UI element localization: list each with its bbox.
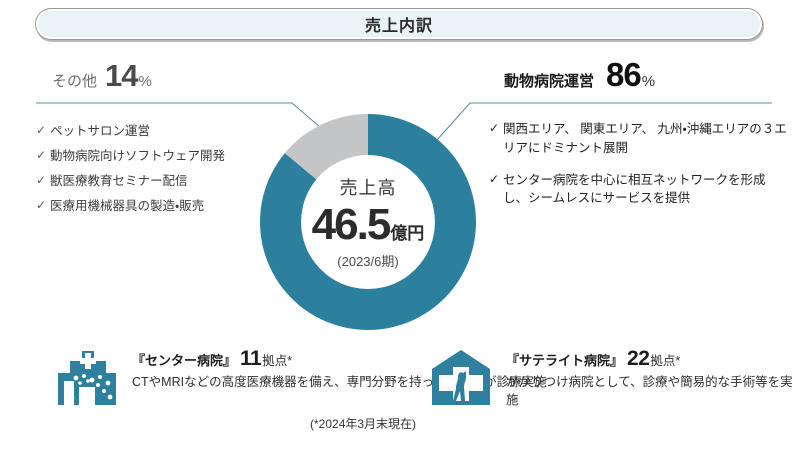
footnote: (*2024年3月末現在) [310,415,416,432]
main-segment-percent-sign: % [642,73,655,90]
facility-count-unit: 拠点* [650,350,680,369]
facility-count: 11 [240,347,261,371]
list-item-label: 関西エリア、 関東エリア、 九州・沖縄エリアの３エリアにドミナント展開 [503,120,789,158]
check-icon: ✓ [489,120,503,137]
other-segment-percent-sign: % [139,73,152,90]
facility-satellite-heading: 『サテライト病院』 22 拠点* [506,347,800,371]
facility-count-unit: 拠点* [262,350,292,369]
list-item-label: ペットサロン運営 [50,122,150,140]
list-item: ✓ センター病院を中心に相互ネットワークを形成し、シームレスにサービスを提供 [489,171,789,209]
main-segment-category: 動物病院運営 [504,70,594,91]
facility-name: 『センター病院』 [132,350,236,369]
donut-center-value: 46.5 [312,202,390,248]
donut-center-title: 売上高 [340,174,397,200]
list-item: ✓ 獣医療教育セミナー配信 [36,172,286,190]
list-item-label: 獣医療教育セミナー配信 [50,172,188,190]
facility-count: 22 [627,347,649,371]
satellite-clinic-icon [424,345,498,411]
list-item: ✓ 動物病院向けソフトウェア開発 [36,147,286,165]
main-segment-label: 動物病院運営 86 % [504,56,655,94]
other-segment-bullet-list: ✓ ペットサロン運営 ✓ 動物病院向けソフトウェア開発 ✓ 獣医療教育セミナー配… [36,122,286,223]
check-icon: ✓ [36,147,50,164]
list-item-label: 医療用機械器具の製造・販売 [50,197,204,215]
donut-center-period: (2023/6期) [337,251,398,270]
facility-satellite-body: 『サテライト病院』 22 拠点* かかりつけ病院として、診療や簡易的な手術等を実… [506,345,800,409]
facility-satellite-hospital: 『サテライト病院』 22 拠点* かかりつけ病院として、診療や簡易的な手術等を実… [424,345,800,411]
list-item: ✓ 関西エリア、 関東エリア、 九州・沖縄エリアの３エリアにドミナント展開 [489,120,789,158]
other-segment-value: 14 [105,58,137,94]
donut-center-label: 売上高 46.5 億円 (2023/6期) [256,110,480,334]
slide-title-bar: 売上内訳 [35,8,763,40]
main-segment-value: 86 [606,56,641,94]
sales-breakdown-donut-chart: 売上高 46.5 億円 (2023/6期) [256,110,480,334]
donut-center-unit: 億円 [390,219,424,244]
facility-description: かかりつけ病院として、診療や簡易的な手術等を実施 [506,373,800,409]
list-item-label: センター病院を中心に相互ネットワークを形成し、シームレスにサービスを提供 [503,171,789,209]
main-segment-bullet-list: ✓ 関西エリア、 関東エリア、 九州・沖縄エリアの３エリアにドミナント展開 ✓ … [489,120,789,221]
check-icon: ✓ [36,172,50,189]
facility-name: 『サテライト病院』 [506,350,623,369]
hospital-building-icon [50,345,124,411]
check-icon: ✓ [489,171,503,188]
check-icon: ✓ [36,122,50,139]
check-icon: ✓ [36,197,50,214]
other-segment-label: その他 14 % [52,58,152,94]
list-item: ✓ 医療用機械器具の製造・販売 [36,197,286,215]
page-title: 売上内訳 [365,12,433,36]
list-item-label: 動物病院向けソフトウェア開発 [50,147,225,165]
list-item: ✓ ペットサロン運営 [36,122,286,140]
other-segment-category: その他 [52,70,97,91]
